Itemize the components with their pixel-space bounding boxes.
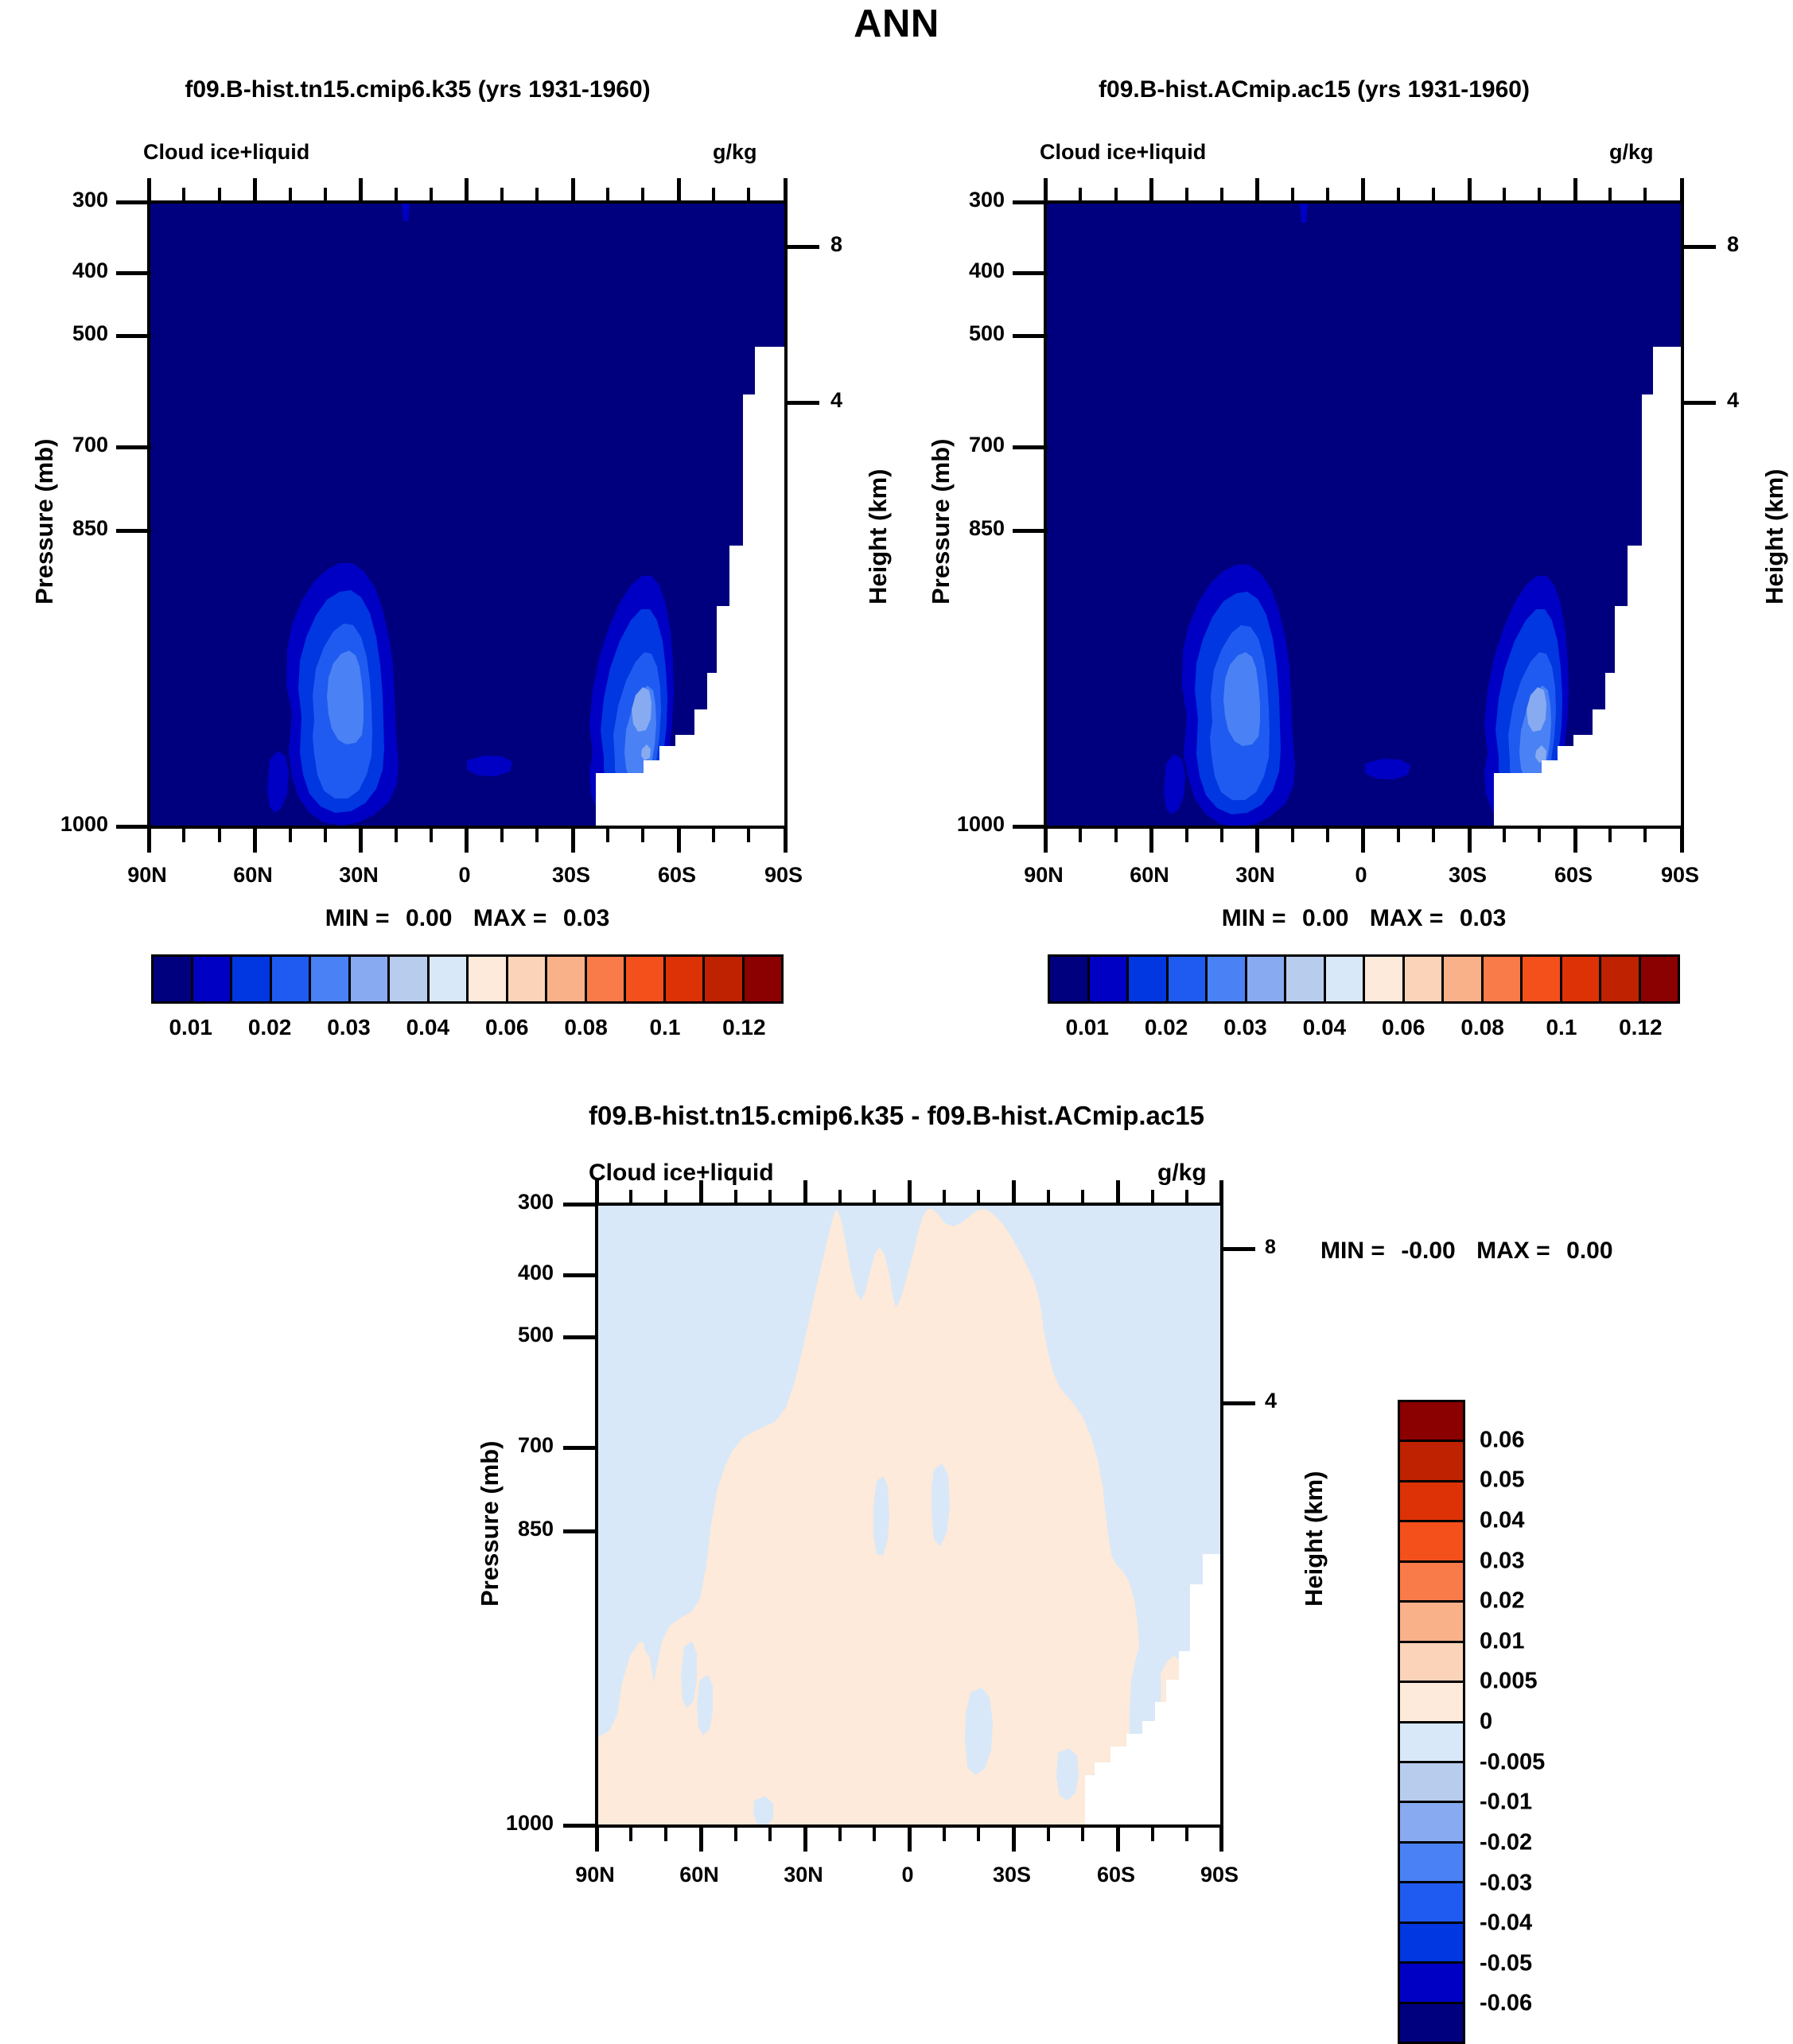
x-tick-label: 30S bbox=[993, 1863, 1031, 1887]
panel-diff-title: f09.B-hist.tn15.cmip6.k35 - f09.B-hist.A… bbox=[0, 1101, 1793, 1131]
colorbar-cell bbox=[1365, 957, 1405, 1001]
colorbar-cell bbox=[1400, 1442, 1463, 1482]
panel-left-title: f09.B-hist.tn15.cmip6.k35 (yrs 1931-1960… bbox=[0, 76, 835, 103]
colorbar-tick-label: 0.06 bbox=[485, 1015, 529, 1040]
min-value: 0.00 bbox=[1302, 905, 1348, 931]
panel-diff-x-tick-labels: 90N 60N 30N 0 30S 60S 90S bbox=[595, 1863, 1223, 1894]
colorbar-tick-label: 0.06 bbox=[1480, 1427, 1524, 1453]
panel-left-variable-label: Cloud ice+liquid bbox=[143, 140, 309, 165]
min-label: MIN = bbox=[1320, 1238, 1385, 1264]
y-tick-label: 1000 bbox=[506, 1811, 554, 1836]
colorbar-tick-label: -0.005 bbox=[1480, 1749, 1545, 1775]
panel-diff-bottom-ticks bbox=[595, 1828, 1223, 1855]
colorbar-cell bbox=[469, 957, 508, 1001]
colorbar-cell bbox=[508, 957, 548, 1001]
x-tick-label: 60S bbox=[1554, 863, 1593, 888]
y-tick-label: 850 bbox=[969, 516, 1005, 541]
colorbar-cell bbox=[232, 957, 272, 1001]
colorbar-tick-label: 0.01 bbox=[1480, 1628, 1524, 1654]
y-tick-label: 400 bbox=[518, 1261, 554, 1285]
x-tick-label: 30S bbox=[552, 863, 590, 888]
panel-left-y-axis-title: Pressure (mb) bbox=[30, 439, 59, 604]
colorbar-cell bbox=[705, 957, 745, 1001]
panel-right-y2-tick-labels: 8 4 bbox=[1727, 200, 1759, 829]
colorbar-cell bbox=[1400, 1643, 1463, 1683]
colorbar-tick-label: 0 bbox=[1480, 1709, 1492, 1735]
colorbar-tick-label: 0.1 bbox=[1546, 1015, 1577, 1040]
colorbar-tick-label: 0.03 bbox=[1223, 1015, 1267, 1040]
x-tick-label: 90N bbox=[127, 863, 167, 888]
max-value: 0.00 bbox=[1566, 1238, 1612, 1264]
x-tick-label: 0 bbox=[1355, 863, 1367, 888]
panel-left-top-ticks bbox=[147, 172, 788, 200]
colorbar-cell bbox=[1405, 957, 1445, 1001]
colorbar-tick-label: 0.02 bbox=[1480, 1588, 1524, 1615]
panel-right-units-label: g/kg bbox=[1609, 140, 1654, 165]
y-tick-label: 700 bbox=[969, 433, 1005, 457]
y-tick-label: 400 bbox=[72, 258, 108, 283]
colorbar-tick-label: 0.08 bbox=[564, 1015, 608, 1040]
panel-right-colorbar-labels: 0.010.020.030.040.060.080.10.12 bbox=[1048, 1015, 1680, 1047]
panel-left-minmax: MIN = 0.00 MAX = 0.03 bbox=[147, 905, 788, 932]
colorbar-cell bbox=[1400, 1402, 1463, 1442]
panel-right-y2-axis-title: Height (km) bbox=[1760, 469, 1789, 605]
panel-diff-minmax: MIN = -0.00 MAX = 0.00 bbox=[1320, 1238, 1613, 1265]
panel-right-contour-field bbox=[1047, 204, 1684, 829]
x-tick-label: 30N bbox=[784, 1863, 823, 1887]
colorbar-cell bbox=[1129, 957, 1169, 1001]
panel-left-bottom-ticks bbox=[147, 829, 788, 857]
colorbar-cell bbox=[1400, 1844, 1463, 1883]
colorbar-cell bbox=[430, 957, 469, 1001]
x-tick-label: 60N bbox=[1130, 863, 1169, 888]
colorbar-cell bbox=[1400, 1803, 1463, 1843]
colorbar-cell bbox=[1400, 1563, 1463, 1603]
colorbar-tick-label: 0.06 bbox=[1382, 1015, 1425, 1040]
colorbar-tick-label: -0.04 bbox=[1480, 1910, 1532, 1937]
panel-right-colorbar[interactable] bbox=[1048, 954, 1680, 1004]
colorbar-cell bbox=[193, 957, 233, 1001]
colorbar-cell bbox=[1601, 957, 1641, 1001]
panel-right-title: f09.B-hist.ACmip.ac15 (yrs 1931-1960) bbox=[896, 76, 1732, 103]
panel-left-units-label: g/kg bbox=[713, 140, 757, 165]
x-tick-label: 90S bbox=[1200, 1863, 1239, 1887]
colorbar-cell bbox=[154, 957, 193, 1001]
min-value: -0.00 bbox=[1401, 1238, 1455, 1264]
x-tick-label: 90S bbox=[764, 863, 803, 888]
panel-left-colorbar-labels: 0.010.020.030.040.060.080.10.12 bbox=[151, 1015, 784, 1047]
x-tick-label: 30S bbox=[1449, 863, 1487, 888]
panel-diff-colorbar-labels: 0.060.050.040.030.020.010.0050-0.005-0.0… bbox=[1480, 1400, 1639, 2044]
y-tick-label: 700 bbox=[72, 433, 108, 457]
colorbar-tick-label: 0.05 bbox=[1480, 1467, 1524, 1494]
colorbar-cell bbox=[1286, 957, 1326, 1001]
panel-diff-y2-axis bbox=[1223, 1203, 1260, 1828]
panel-diff-y2-axis-title: Height (km) bbox=[1300, 1471, 1328, 1607]
colorbar-cell bbox=[1326, 957, 1366, 1001]
y-tick-label: 850 bbox=[72, 516, 108, 541]
panel-right-minmax: MIN = 0.00 MAX = 0.03 bbox=[1044, 905, 1684, 932]
panel-diff-y2-tick-labels: 8 4 bbox=[1265, 1203, 1297, 1828]
colorbar-tick-label: -0.05 bbox=[1480, 1950, 1532, 1976]
panel-right-variable-label: Cloud ice+liquid bbox=[1040, 140, 1206, 165]
colorbar-tick-label: 0.02 bbox=[1145, 1015, 1188, 1040]
x-tick-label: 90S bbox=[1661, 863, 1699, 888]
y2-tick-label: 8 bbox=[830, 232, 842, 257]
max-label: MAX = bbox=[1476, 1238, 1550, 1264]
x-tick-label: 0 bbox=[458, 863, 470, 888]
max-label: MAX = bbox=[473, 905, 547, 931]
colorbar-cell bbox=[666, 957, 706, 1001]
y-tick-label: 850 bbox=[518, 1517, 554, 1541]
colorbar-cell bbox=[745, 957, 782, 1001]
panel-right-y-axis bbox=[1008, 200, 1048, 829]
panel-right: f09.B-hist.ACmip.ac15 (yrs 1931-1960) Cl… bbox=[896, 0, 1793, 1066]
panel-left-y2-tick-labels: 8 4 bbox=[830, 200, 862, 829]
colorbar-cell bbox=[1400, 1683, 1463, 1723]
panel-diff: f09.B-hist.tn15.cmip6.k35 - f09.B-hist.A… bbox=[0, 1066, 1793, 1922]
colorbar-tick-label: 0.12 bbox=[1619, 1015, 1663, 1040]
colorbar-cell bbox=[1400, 1603, 1463, 1642]
panel-right-x-tick-labels: 90N 60N 30N 0 30S 60S 90S bbox=[1044, 863, 1684, 895]
panel-diff-contour-field bbox=[598, 1206, 1223, 1828]
colorbar-cell bbox=[1400, 1522, 1463, 1562]
colorbar-tick-label: 0.12 bbox=[722, 1015, 766, 1040]
x-tick-label: 90N bbox=[575, 1863, 615, 1887]
panel-left-x-tick-labels: 90N 60N 30N 0 30S 60S 90S bbox=[147, 863, 788, 895]
y-tick-label: 500 bbox=[518, 1323, 554, 1347]
colorbar-cell bbox=[1400, 1723, 1463, 1763]
y-tick-label: 1000 bbox=[957, 812, 1005, 837]
panel-left-plot-area bbox=[147, 200, 788, 829]
y-tick-label: 1000 bbox=[60, 812, 108, 837]
panel-left-y-axis bbox=[111, 200, 151, 829]
panel-left-colorbar[interactable] bbox=[151, 954, 784, 1004]
colorbar-tick-label: 0.03 bbox=[327, 1015, 371, 1040]
panel-diff-y-axis-title: Pressure (mb) bbox=[476, 1441, 504, 1607]
max-value: 0.03 bbox=[563, 905, 609, 931]
colorbar-tick-label: -0.02 bbox=[1480, 1829, 1532, 1856]
colorbar-tick-label: -0.03 bbox=[1480, 1870, 1532, 1896]
colorbar-cell bbox=[1641, 957, 1678, 1001]
colorbar-tick-label: 0.01 bbox=[1065, 1015, 1109, 1040]
colorbar-cell bbox=[1562, 957, 1602, 1001]
colorbar-cell bbox=[1169, 957, 1208, 1001]
colorbar-cell bbox=[1090, 957, 1130, 1001]
colorbar-cell bbox=[1050, 957, 1090, 1001]
colorbar-cell bbox=[1523, 957, 1562, 1001]
colorbar-tick-label: 0.03 bbox=[1480, 1548, 1524, 1574]
y-tick-label: 700 bbox=[518, 1433, 554, 1458]
y-tick-label: 400 bbox=[969, 258, 1005, 283]
panel-right-plot-area bbox=[1044, 200, 1684, 829]
panel-right-y-axis-title: Pressure (mb) bbox=[927, 439, 955, 604]
colorbar-tick-label: 0.01 bbox=[169, 1015, 212, 1040]
min-label: MIN = bbox=[1222, 905, 1286, 931]
x-tick-label: 60S bbox=[1097, 1863, 1135, 1887]
colorbar-tick-label: 0.1 bbox=[649, 1015, 680, 1040]
colorbar-cell bbox=[1400, 1482, 1463, 1522]
x-tick-label: 0 bbox=[901, 1863, 913, 1887]
panel-right-y2-axis bbox=[1684, 200, 1721, 829]
colorbar-tick-label: 0.02 bbox=[248, 1015, 292, 1040]
colorbar-cell bbox=[1484, 957, 1523, 1001]
x-tick-label: 60S bbox=[658, 863, 696, 888]
y-tick-label: 500 bbox=[969, 321, 1005, 346]
colorbar-cell bbox=[1400, 2004, 1463, 2042]
x-tick-label: 60N bbox=[679, 1863, 719, 1887]
x-tick-label: 60N bbox=[233, 863, 273, 888]
panel-left-y2-axis-title: Height (km) bbox=[864, 469, 893, 605]
y2-tick-label: 4 bbox=[1727, 388, 1739, 413]
min-label: MIN = bbox=[325, 905, 390, 931]
x-tick-label: 30N bbox=[1235, 863, 1275, 888]
y2-tick-label: 4 bbox=[1265, 1389, 1277, 1413]
y-tick-label: 300 bbox=[969, 188, 1005, 212]
min-value: 0.00 bbox=[406, 905, 452, 931]
x-tick-label: 90N bbox=[1024, 863, 1064, 888]
panel-right-top-ticks bbox=[1044, 172, 1684, 200]
colorbar-tick-label: 0.04 bbox=[406, 1015, 450, 1040]
colorbar-cell bbox=[547, 957, 587, 1001]
panel-diff-plot-area bbox=[595, 1203, 1223, 1828]
y-tick-label: 300 bbox=[72, 188, 108, 212]
colorbar-cell bbox=[1400, 1964, 1463, 2003]
panel-left-contour-field bbox=[150, 204, 788, 829]
colorbar-cell bbox=[587, 957, 627, 1001]
max-label: MAX = bbox=[1370, 905, 1444, 931]
colorbar-tick-label: 0.04 bbox=[1480, 1507, 1524, 1533]
colorbar-cell bbox=[1400, 1763, 1463, 1803]
y2-tick-label: 8 bbox=[1265, 1236, 1276, 1259]
colorbar-cell bbox=[351, 957, 391, 1001]
panel-left: f09.B-hist.tn15.cmip6.k35 (yrs 1931-1960… bbox=[0, 0, 896, 1066]
colorbar-cell bbox=[1247, 957, 1287, 1001]
colorbar-cell bbox=[1400, 1883, 1463, 1923]
colorbar-cell bbox=[1400, 1924, 1463, 1964]
panel-right-bottom-ticks bbox=[1044, 829, 1684, 857]
y2-tick-label: 8 bbox=[1727, 232, 1739, 257]
panel-diff-top-ticks bbox=[595, 1175, 1223, 1203]
x-tick-label: 30N bbox=[339, 863, 379, 888]
panel-diff-y-axis bbox=[558, 1203, 598, 1828]
colorbar-tick-label: -0.06 bbox=[1480, 1991, 1532, 2017]
panel-left-y2-axis bbox=[788, 200, 824, 829]
colorbar-tick-label: 0.005 bbox=[1480, 1669, 1538, 1695]
colorbar-cell bbox=[272, 957, 312, 1001]
y-tick-label: 300 bbox=[518, 1190, 554, 1214]
max-value: 0.03 bbox=[1460, 905, 1506, 931]
colorbar-cell bbox=[626, 957, 666, 1001]
colorbar-cell bbox=[1208, 957, 1247, 1001]
colorbar-tick-label: 0.08 bbox=[1460, 1015, 1504, 1040]
y-tick-label: 500 bbox=[72, 321, 108, 346]
colorbar-tick-label: -0.01 bbox=[1480, 1789, 1532, 1816]
panel-diff-colorbar[interactable] bbox=[1398, 1400, 1465, 2044]
colorbar-cell bbox=[311, 957, 351, 1001]
colorbar-tick-label: 0.04 bbox=[1303, 1015, 1347, 1040]
colorbar-cell bbox=[390, 957, 430, 1001]
y2-tick-label: 4 bbox=[830, 388, 842, 413]
colorbar-cell bbox=[1444, 957, 1484, 1001]
